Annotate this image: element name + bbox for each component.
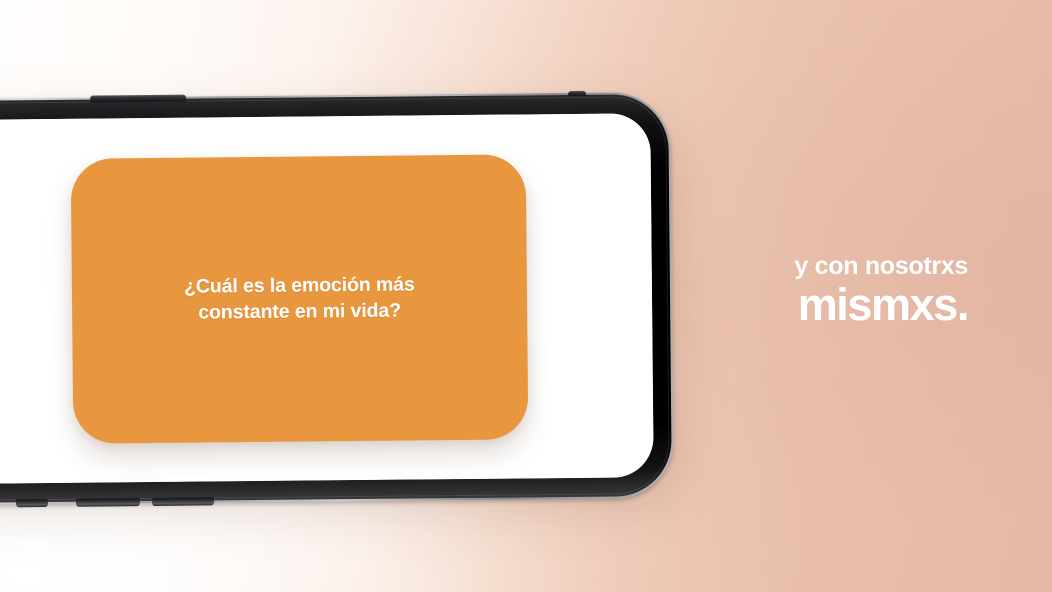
headline-line-2: mismxs. — [794, 282, 968, 328]
mute-switch[interactable] — [152, 497, 214, 506]
power-button[interactable] — [90, 95, 186, 103]
promo-canvas: ¿Cuál es la emoción más constante en mi … — [0, 0, 1052, 592]
volume-down-button[interactable] — [76, 498, 140, 507]
headline-line-1: y con nosotrxs — [794, 254, 968, 280]
volume-up-button[interactable] — [16, 499, 48, 507]
sim-tray[interactable] — [568, 91, 586, 96]
phone-mockup: ¿Cuál es la emoción más constante en mi … — [0, 92, 674, 507]
headline-block: y con nosotrxs mismxs. — [794, 254, 968, 327]
app-canvas: ¿Cuál es la emoción más constante en mi … — [0, 113, 654, 485]
prompt-card[interactable]: ¿Cuál es la emoción más constante en mi … — [71, 154, 529, 443]
phone-screen: ¿Cuál es la emoción más constante en mi … — [0, 113, 654, 485]
prompt-question-text: ¿Cuál es la emoción más constante en mi … — [149, 272, 449, 326]
